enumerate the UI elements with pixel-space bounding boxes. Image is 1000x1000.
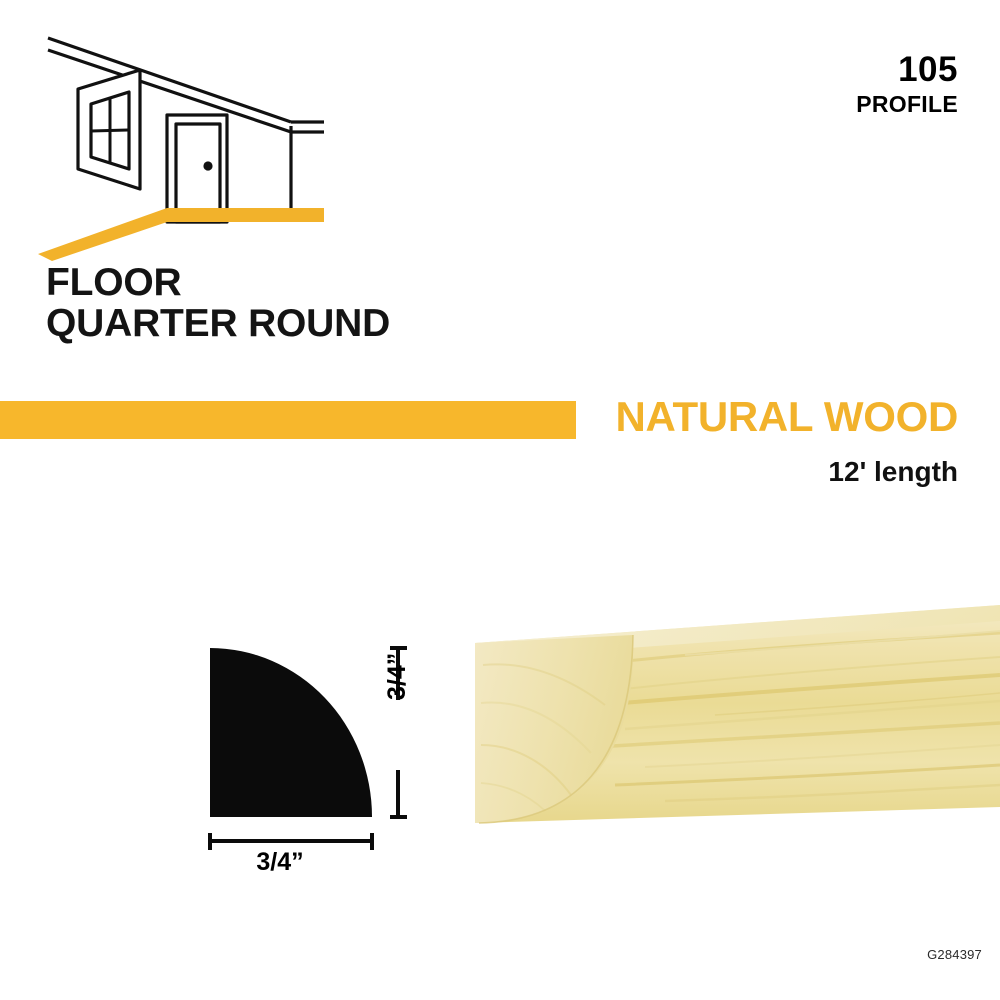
product-spec-sheet: 105 PROFILE FLOOR QUARTER ROUND NATURAL … <box>0 0 1000 1000</box>
height-dimension-label: 3/4” <box>383 653 412 700</box>
profile-number: 105 <box>856 52 958 87</box>
page-title: FLOOR QUARTER ROUND <box>46 262 390 345</box>
door-icon <box>167 115 227 222</box>
profile-caption: PROFILE <box>856 93 958 116</box>
accent-banner-bar <box>0 401 576 439</box>
floor-quarter-round-highlight <box>38 208 324 261</box>
cross-section-shape <box>210 648 372 817</box>
width-dimension-label: 3/4” <box>180 848 380 877</box>
product-title-line-1: FLOOR <box>46 262 390 303</box>
product-title-line-2: QUARTER ROUND <box>46 303 390 344</box>
material-label: NATURAL WOOD <box>616 396 958 438</box>
ceiling-molding-line-back <box>291 122 324 132</box>
window-icon <box>78 70 140 189</box>
wood-quarter-round-photo <box>455 595 1000 845</box>
sku-code: G284397 <box>927 947 982 962</box>
door-knob-icon <box>203 161 212 170</box>
profile-identifier: 105 PROFILE <box>856 52 958 116</box>
room-corner-illustration <box>34 26 324 261</box>
length-label: 12' length <box>828 458 958 486</box>
